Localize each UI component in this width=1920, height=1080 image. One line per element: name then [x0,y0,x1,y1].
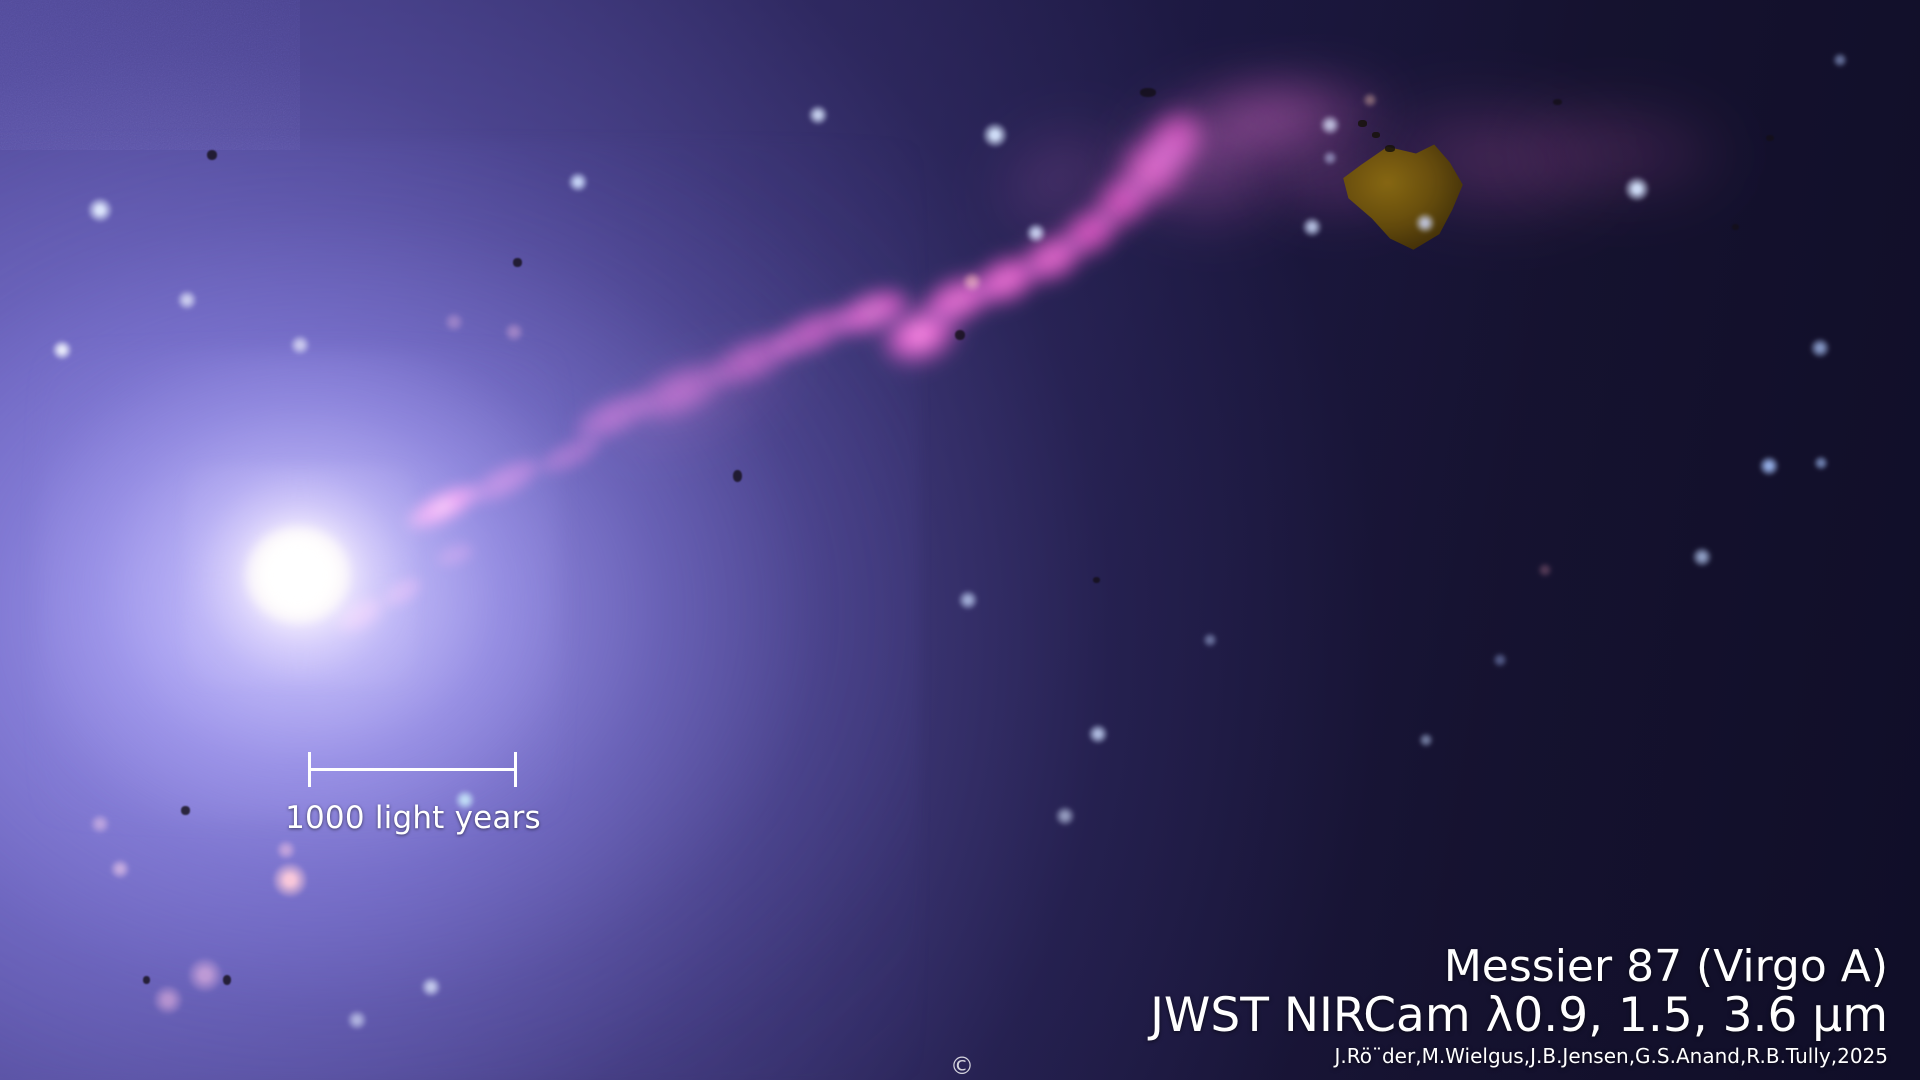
jet-knot [1014,224,1091,292]
point-source [1757,454,1781,478]
galaxy-core [246,527,350,623]
blob-speck-icon [1385,145,1395,152]
dark-artifact [955,330,965,340]
scale-bar-label: 1000 light years [228,800,598,836]
dark-artifact [1093,577,1100,583]
jet-knot [1137,100,1215,179]
point-source [1086,722,1110,746]
copyright-icon: © [950,1052,974,1080]
point-source [1024,221,1048,245]
scale-bar-tick-right [514,752,517,787]
point-source [1622,174,1652,204]
jet-lobe [1508,98,1731,206]
point-source [1690,545,1714,569]
caption-credit: J.Rö¨der,M.Wielgus,J.B.Jensen,G.S.Anand,… [1150,1045,1888,1068]
jet-lobe [1108,122,1291,237]
point-source [1812,454,1830,472]
jet-knot [1107,125,1198,216]
jet-knot [1084,165,1161,240]
jet-lobe [1126,62,1334,194]
point-source [1536,561,1554,579]
masked-region-blob [1338,140,1468,252]
point-source [1318,113,1342,137]
point-source [1053,804,1077,828]
point-source [1201,631,1219,649]
dark-artifact [1732,224,1739,230]
point-source [1491,651,1509,669]
point-source [1361,91,1379,109]
astronomy-image-viewer: 1000 light years © Messier 87 (Virgo A) … [0,0,1920,1080]
point-source [980,120,1010,150]
jet-knot [966,246,1046,314]
point-source [956,588,980,612]
jet-knot [916,266,999,334]
blob-speck-icon [1372,132,1380,138]
dark-artifact [1766,135,1774,141]
point-source [1321,149,1339,167]
dark-artifact [1553,99,1562,105]
point-source [960,270,984,294]
point-source [806,103,830,127]
jet-lobe [1204,67,1395,166]
point-source [1300,215,1324,239]
point-source [1831,51,1849,69]
jet-knot [1053,198,1127,266]
caption-subtitle: JWST NIRCam λ0.9, 1.5, 3.6 μm [1150,991,1888,1042]
caption-block: Messier 87 (Virgo A) JWST NIRCam λ0.9, 1… [1150,944,1888,1069]
blob-speck-icon [1358,120,1367,127]
page-title: Messier 87 (Virgo A) [1150,944,1888,990]
jet-lobe [974,102,1145,259]
dark-artifact [1140,88,1156,97]
point-source [1808,336,1832,360]
noise-overlay [0,0,300,150]
point-source [1417,731,1435,749]
scale-bar-line [308,768,517,771]
